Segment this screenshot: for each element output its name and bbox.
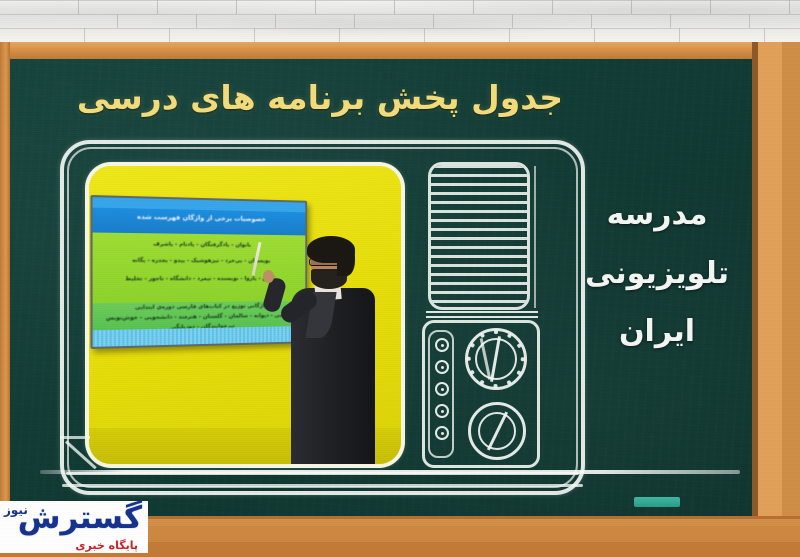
watermark-brand: گسترش <box>18 501 142 536</box>
screenshot-stage: جدول پخش برنامه های درسی مدرسه تلویزیونی… <box>0 0 800 557</box>
wood-frame-right <box>752 42 800 522</box>
chalkboard-eraser <box>634 497 680 507</box>
tv-button-2[interactable] <box>435 360 449 374</box>
wood-frame-left <box>0 42 10 522</box>
tv-button-4[interactable] <box>435 404 449 418</box>
watermark-tagline: پایگاه خبری <box>75 539 138 552</box>
tuner-dial-upper-ticks <box>465 328 527 390</box>
presenter-suit <box>291 288 375 468</box>
tv-base-line-2 <box>62 484 583 487</box>
brick-texture <box>0 0 800 42</box>
tv-button-3[interactable] <box>435 382 449 396</box>
chalk-television-drawing: خصوصیات برخی از واژگان فهرست شده بانوان … <box>60 140 585 495</box>
tv-corner-bevel-2 <box>60 436 90 439</box>
tv-speaker-grille <box>428 162 530 310</box>
slide-text-line: بانوان - یادگرفتگان - یادنام - یاشرف <box>93 241 306 249</box>
slide-text-line: بویسوان - بی‌خرد - تیزهوشیک - ییدو - یجد… <box>93 257 306 264</box>
watermark-logo: گسترش نیوز پایگاه خبری <box>0 501 148 553</box>
tv-button-column <box>428 330 454 458</box>
brick-wall-background <box>0 0 800 42</box>
presenter-figure <box>285 236 375 468</box>
program-name-line-2: تلویزیونی <box>572 245 742 304</box>
speaker-grille-lines <box>428 165 530 307</box>
slide-text-line: قصیمی - دیوانه - سالمان - گلستان - هنرمن… <box>93 312 306 321</box>
chalk-line <box>40 470 740 474</box>
presenter-hand <box>263 270 274 283</box>
tv-panel-divider-lines <box>426 311 538 320</box>
wood-frame-right-shadow <box>752 42 758 522</box>
presenter-hair-side <box>337 242 355 276</box>
tv-speaker-edge-line <box>534 166 536 308</box>
wood-frame-top <box>0 42 800 59</box>
tv-button-1[interactable] <box>435 338 449 352</box>
watermark-brand-suffix: نیوز <box>4 503 28 517</box>
page-title: جدول پخش برنامه های درسی <box>60 78 580 117</box>
tv-button-5[interactable] <box>435 426 449 440</box>
program-name-line-3: ایران <box>572 303 742 362</box>
program-name-line-1: مدرسه <box>572 186 742 245</box>
lesson-slide-board: خصوصیات برخی از واژگان فهرست شده بانوان … <box>90 195 307 349</box>
tv-screen: خصوصیات برخی از واژگان فهرست شده بانوان … <box>85 162 405 468</box>
slide-bottom-band <box>93 326 306 347</box>
program-name-block: مدرسه تلویزیونی ایران <box>572 186 742 362</box>
